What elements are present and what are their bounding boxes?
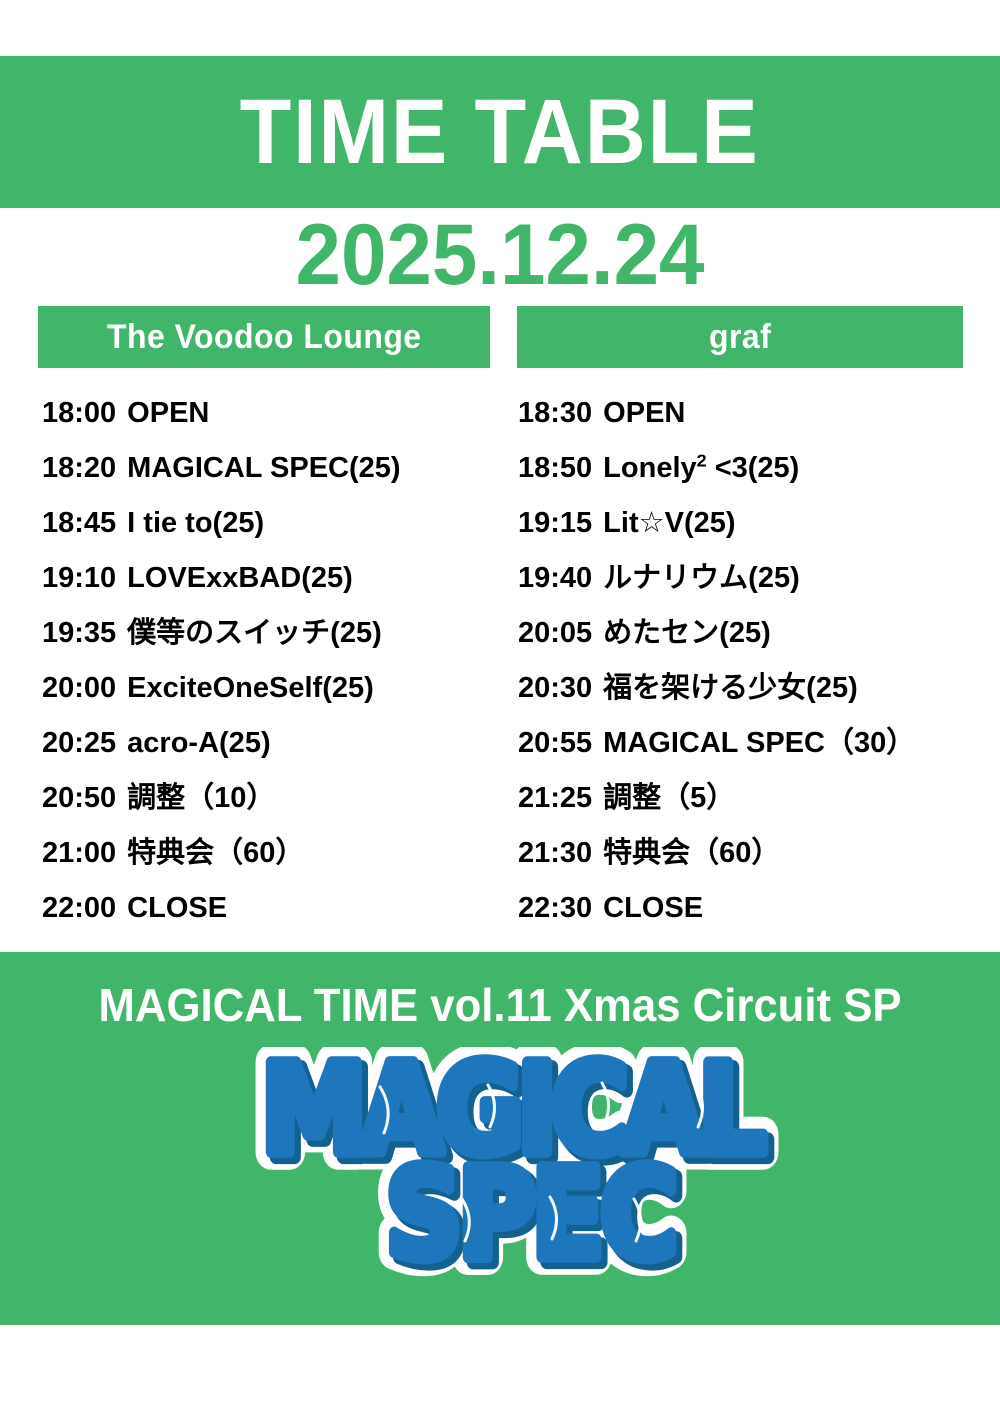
event-title: MAGICAL TIME vol.11 Xmas Circuit SP [25, 982, 975, 1028]
row-time: 19:40 [518, 564, 592, 593]
row-time: 19:10 [42, 564, 116, 593]
schedule-row: 22:00CLOSE [42, 881, 512, 936]
row-label: ルナリウム(25) [603, 564, 800, 593]
venue-header-graf: graf [517, 306, 963, 368]
row-time: 19:35 [42, 619, 116, 648]
row-time: 21:00 [42, 839, 116, 868]
magical-spec-logo: MAGICAL SPEC MAGICAL SPEC [230, 1047, 790, 1287]
row-time: 20:25 [42, 729, 116, 758]
row-label: 僕等のスイッチ(25) [127, 619, 382, 648]
row-time: 20:50 [42, 784, 116, 813]
schedule-column-graf: 18:30OPEN18:50Lonely2 <3(25)19:15Lit☆V(2… [518, 386, 988, 936]
schedule-row: 21:30特典会（60） [518, 826, 988, 881]
schedule-row: 19:40ルナリウム(25) [518, 551, 988, 606]
row-label: Lit☆V(25) [603, 509, 735, 538]
schedule-row: 21:00特典会（60） [42, 826, 512, 881]
row-label-superscript: 2 [697, 450, 707, 470]
row-label: CLOSE [127, 894, 227, 923]
schedule-row: 19:10LOVExxBAD(25) [42, 551, 512, 606]
row-label: 調整（5） [603, 784, 735, 813]
row-label: MAGICAL SPEC(25) [127, 454, 400, 483]
venue-name-label: graf [709, 320, 771, 354]
event-date: 2025.12.24 [25, 212, 975, 298]
row-label: I tie to(25) [127, 509, 264, 538]
schedule-row: 18:00OPEN [42, 386, 512, 441]
schedule-row: 21:25調整（5） [518, 771, 988, 826]
row-label: OPEN [603, 399, 685, 428]
schedule-row: 19:35僕等のスイッチ(25) [42, 606, 512, 661]
row-time: 21:25 [518, 784, 592, 813]
schedule-row: 18:20MAGICAL SPEC(25) [42, 441, 512, 496]
venue-name-label: The Voodoo Lounge [107, 320, 422, 354]
schedule-row: 18:50Lonely2 <3(25) [518, 441, 988, 496]
row-label: めたセン(25) [603, 619, 771, 648]
row-time: 19:15 [518, 509, 592, 538]
row-time: 18:20 [42, 454, 116, 483]
row-time: 22:00 [42, 894, 116, 923]
schedule-row: 19:15Lit☆V(25) [518, 496, 988, 551]
row-label: CLOSE [603, 894, 703, 923]
row-time: 20:30 [518, 674, 592, 703]
schedule-row: 22:30CLOSE [518, 881, 988, 936]
schedule-row: 20:00ExciteOneSelf(25) [42, 661, 512, 716]
schedule-column-voodoo-lounge: 18:00OPEN18:20MAGICAL SPEC(25)18:45I tie… [42, 386, 512, 936]
row-label: 福を架ける少女(25) [603, 674, 858, 703]
row-time: 22:30 [518, 894, 592, 923]
row-label: 特典会（60） [127, 839, 304, 868]
header-band: TIME TABLE [0, 56, 1000, 208]
row-time: 20:00 [42, 674, 116, 703]
row-time: 18:00 [42, 399, 116, 428]
row-label: 調整（10） [127, 784, 275, 813]
schedule-row: 20:55MAGICAL SPEC（30） [518, 716, 988, 771]
footer-band: MAGICAL TIME vol.11 Xmas Circuit SP MAGI… [0, 952, 1000, 1325]
row-label: OPEN [127, 399, 209, 428]
venue-header-voodoo-lounge: The Voodoo Lounge [38, 306, 490, 368]
schedule-row: 20:50調整（10） [42, 771, 512, 826]
row-time: 18:30 [518, 399, 592, 428]
schedule-row: 18:45I tie to(25) [42, 496, 512, 551]
row-time: 20:05 [518, 619, 592, 648]
row-time: 21:30 [518, 839, 592, 868]
schedule-row: 20:25acro-A(25) [42, 716, 512, 771]
schedule-row: 20:05めたセン(25) [518, 606, 988, 661]
row-label: LOVExxBAD(25) [127, 564, 353, 593]
row-label: 特典会（60） [603, 839, 780, 868]
row-label: ExciteOneSelf(25) [127, 674, 374, 703]
row-label: acro-A(25) [127, 729, 270, 758]
row-time: 18:50 [518, 454, 592, 483]
row-label: Lonely2 <3(25) [603, 454, 799, 483]
row-label: MAGICAL SPEC（30） [603, 729, 915, 758]
page-title: TIME TABLE [240, 86, 760, 178]
row-time: 20:55 [518, 729, 592, 758]
row-time: 18:45 [42, 509, 116, 538]
schedule-row: 20:30福を架ける少女(25) [518, 661, 988, 716]
schedule-row: 18:30OPEN [518, 386, 988, 441]
